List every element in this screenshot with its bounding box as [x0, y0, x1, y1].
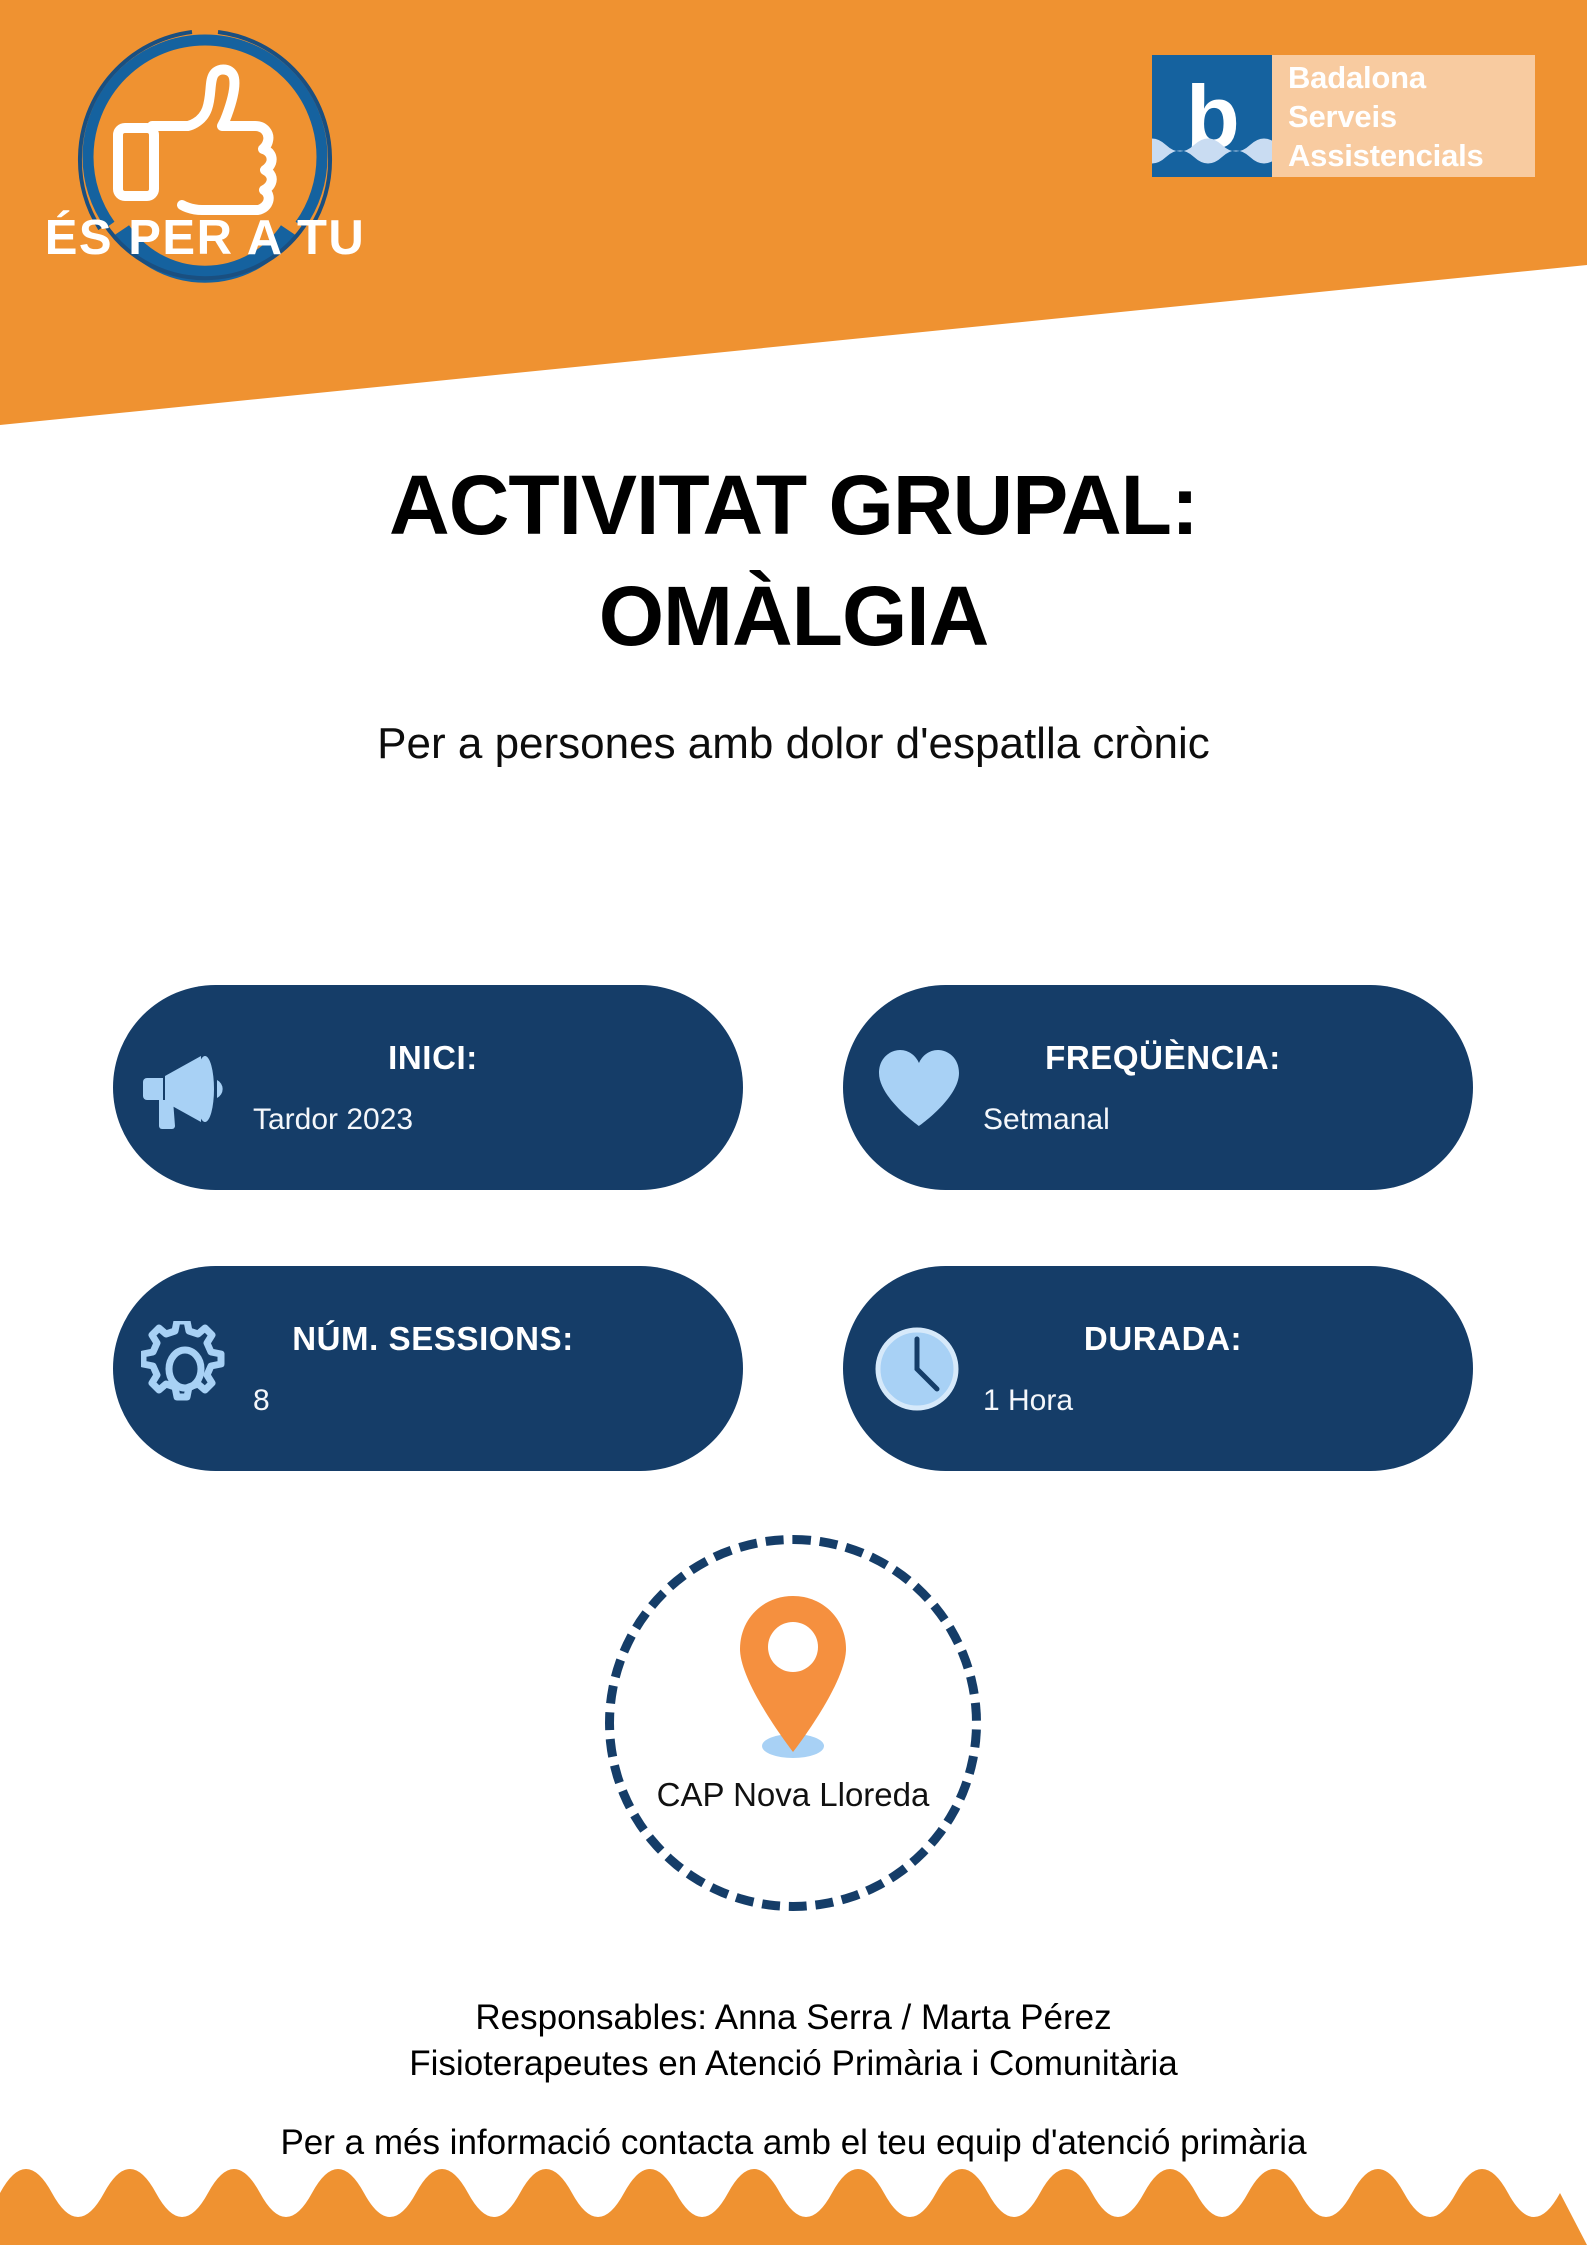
gear-icon — [139, 1319, 239, 1419]
org-logo-text: Badalona Serveis Assistencials — [1272, 55, 1535, 177]
megaphone-icon — [139, 1038, 239, 1138]
campaign-logo-text: ÉS PER A TU — [45, 211, 366, 265]
info-card-inici: INICI: Tardor 2023 — [113, 985, 743, 1190]
clock-icon — [869, 1319, 969, 1419]
location-name: CAP Nova Lloreda — [614, 1776, 972, 1814]
org-logo: b Badalona Serveis Assistencials — [1152, 55, 1535, 177]
page-title-line1: ACTIVITAT GRUPAL: — [389, 458, 1198, 552]
info-cards: INICI: Tardor 2023 FREQÜÈNCIA: Setmanal — [113, 985, 1473, 1471]
title-block: ACTIVITAT GRUPAL: OMÀLGIA Per a persones… — [0, 450, 1587, 771]
info-card-value: Setmanal — [983, 1103, 1453, 1137]
org-logo-line2: Serveis — [1288, 97, 1535, 136]
info-card-value: Tardor 2023 — [253, 1103, 723, 1137]
info-card-body: INICI: Tardor 2023 — [253, 985, 723, 1190]
page-title: ACTIVITAT GRUPAL: OMÀLGIA — [0, 450, 1587, 672]
page-title-line2: OMÀLGIA — [599, 569, 989, 663]
org-logo-wave — [1152, 139, 1272, 164]
info-card-body: NÚM. SESSIONS: 8 — [253, 1266, 723, 1471]
info-card-label: INICI: — [253, 1039, 723, 1077]
footer-contact: Per a més informació contacta amb el teu… — [0, 2123, 1587, 2163]
thumbs-up-icon — [118, 69, 272, 210]
heart-icon — [869, 1038, 969, 1138]
org-logo-line3: Assistencials — [1288, 136, 1535, 175]
org-logo-mark: b — [1152, 55, 1272, 177]
info-card-body: FREQÜÈNCIA: Setmanal — [983, 985, 1453, 1190]
campaign-logo: ÉS PER A TU — [40, 18, 370, 318]
info-card-durada: DURADA: 1 Hora — [843, 1266, 1473, 1471]
info-card-frequencia: FREQÜÈNCIA: Setmanal — [843, 985, 1473, 1190]
footer-responsible-line2: Fisioterapeutes en Atenció Primària i Co… — [409, 2044, 1177, 2083]
info-card-num-sessions: NÚM. SESSIONS: 8 — [113, 1266, 743, 1471]
info-card-label: DURADA: — [983, 1320, 1453, 1358]
org-logo-line1: Badalona — [1288, 58, 1535, 97]
info-card-value: 1 Hora — [983, 1384, 1453, 1418]
info-card-label: NÚM. SESSIONS: — [253, 1320, 723, 1358]
footer: Responsables: Anna Serra / Marta Pérez F… — [0, 1995, 1587, 2163]
info-card-body: DURADA: 1 Hora — [983, 1266, 1453, 1471]
info-card-value: 8 — [253, 1384, 723, 1418]
page-subtitle: Per a persones amb dolor d'espatlla cròn… — [0, 716, 1587, 771]
poster-root: ÉS PER A TU b Badalona Serveis Assistenc… — [0, 0, 1587, 2245]
location-circle: CAP Nova Lloreda — [605, 1535, 981, 1911]
footer-responsibles: Responsables: Anna Serra / Marta Pérez F… — [0, 1995, 1587, 2087]
info-card-label: FREQÜÈNCIA: — [983, 1039, 1453, 1077]
footer-responsible-line1: Responsables: Anna Serra / Marta Pérez — [475, 1998, 1111, 2037]
map-pin-icon — [732, 1592, 854, 1762]
